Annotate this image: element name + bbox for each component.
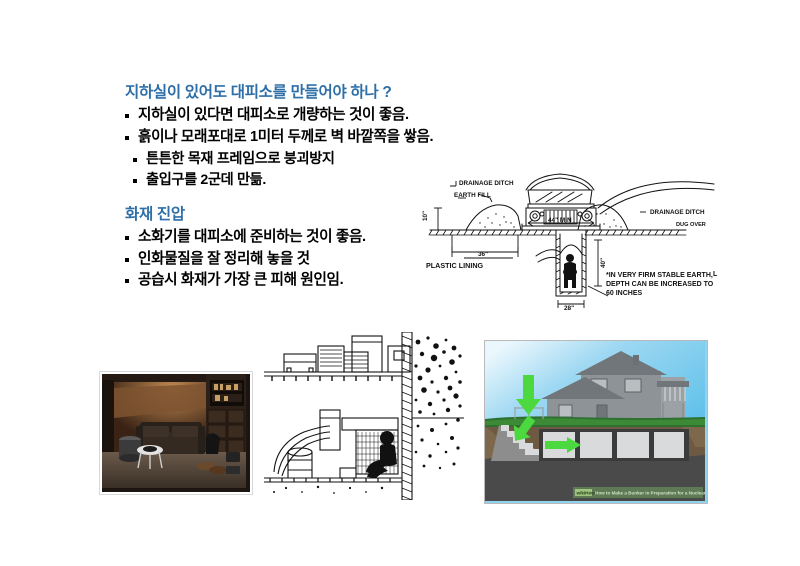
label-dug-over: DUG OVER (676, 222, 706, 228)
list-item: 흙이나 모래포대로 1미터 두께로 벽 바깥쪽을 쌓음. (118, 127, 448, 149)
section-one-bullet-list: 지하실이 있다면 대피소로 개량하는 것이 좋음. 흙이나 모래포대로 1미터 … (118, 105, 448, 148)
list-item: 지하실이 있다면 대피소로 개량하는 것이 좋음. (118, 105, 448, 127)
label-vehicle-span: 44" MIN (548, 217, 572, 224)
label-trench-width: 28" (564, 305, 574, 312)
label-drainage-ditch-left: DRAINAGE DITCH (459, 180, 514, 187)
label-earth-fill: EARTH FILL (454, 192, 491, 199)
label-plastic-lining: PLASTIC LINING (426, 261, 484, 270)
label-drainage-ditch-right: DRAINAGE DITCH (650, 209, 705, 216)
slide-page: 지하실이 있어도 대피소를 만들어야 하나 ? 지하실이 있다면 대피소로 개량… (0, 0, 800, 566)
label-stable-earth-note: *IN VERY FIRM STABLE EARTH, DEPTH CAN BE… (606, 272, 722, 299)
house-bunker-illustration: wikiHow How to Make a Bunker in Preparat… (484, 340, 708, 504)
section-one-sub-bullet-list: 튼튼한 목재 프레임으로 붕괴방지 출입구를 2군데 만듦. (118, 149, 448, 191)
label-width-left: 36" (478, 251, 488, 258)
label-trench-depth: 40" (600, 258, 607, 268)
list-item: 공습시 화재가 가장 큰 피해 원인임. (118, 270, 448, 292)
list-item: 소화기를 대피소에 준비하는 것이 좋음. (118, 227, 393, 249)
basement-shelter-photo (100, 372, 252, 494)
slide-text-column: 지하실이 있어도 대피소를 만들어야 하나 ? 지하실이 있다면 대피소로 개량… (118, 82, 448, 292)
list-item: 출입구를 2군데 만듦. (118, 170, 448, 191)
section-two-heading: 화재 진압 (125, 204, 448, 226)
wikihow-logo: wikiHow (576, 491, 596, 496)
section-two-bullet-list: 소화기를 대피소에 준비하는 것이 좋음. 인화물질을 잘 정리해 놓을 것 공… (118, 227, 448, 292)
section-one-heading: 지하실이 있어도 대피소를 만들어야 하나 ? (125, 82, 448, 104)
diagram-edge-mark: L (713, 271, 718, 278)
trench-shelter-diagram: DRAINAGE DITCH EARTH FILL DRAINAGE DITCH… (418, 168, 724, 313)
wikihow-caption: How to Make a Bunker in Preparation for … (595, 491, 705, 496)
list-item: 튼튼한 목재 프레임으로 붕괴방지 (118, 149, 448, 170)
label-depth-left: 10" (422, 211, 429, 221)
basement-shelter-cutaway-drawing (256, 332, 464, 500)
list-item: 인화물질을 잘 정리해 놓을 것 (118, 249, 448, 271)
